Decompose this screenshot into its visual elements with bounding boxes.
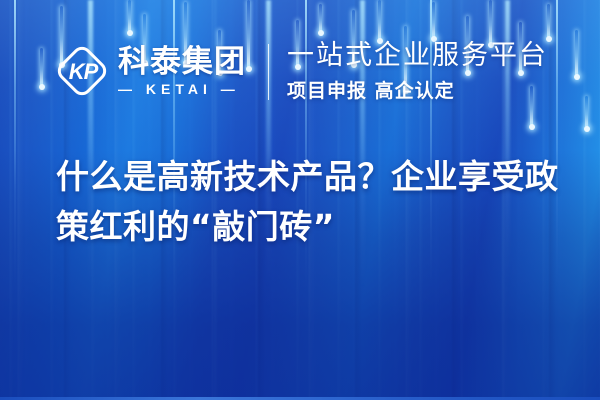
- falling-light-particle: [432, 2, 435, 40]
- ketai-diamond-kp-icon: KP: [56, 45, 110, 99]
- tagline-block: 一站式企业服务平台 项目申报 高企认定: [287, 41, 548, 103]
- falling-light-particle: [575, 30, 578, 78]
- tagline-sub: 项目申报 高企认定: [287, 76, 548, 103]
- falling-light-particle: [40, 48, 43, 88]
- vertical-divider-icon: [268, 44, 269, 100]
- logo-letters: KP: [56, 45, 110, 99]
- brand-header: KP 科泰集团 — KETAI — 一站式企业服务平台 项目申报 高企认定: [56, 38, 548, 106]
- falling-light-particle: [128, 0, 131, 34]
- falling-light-particle: [547, 4, 550, 40]
- brand-names: 科泰集团 — KETAI —: [118, 47, 246, 97]
- falling-light-particle: [378, 0, 381, 42]
- brand-name-en: — KETAI —: [118, 81, 246, 97]
- headline-line-2: 策红利的“敲门砖”: [56, 202, 571, 252]
- headline: 什么是高新技术产品？企业享受政 策红利的“敲门砖”: [56, 152, 571, 252]
- tagline-main: 一站式企业服务平台: [287, 41, 548, 71]
- falling-light-particle: [585, 96, 588, 130]
- headline-line-1: 什么是高新技术产品？企业享受政: [56, 152, 571, 202]
- promo-banner: KP 科泰集团 — KETAI — 一站式企业服务平台 项目申报 高企认定 什么…: [0, 0, 600, 400]
- falling-light-particle: [319, 4, 322, 34]
- brand-name-cn: 科泰集团: [118, 47, 246, 79]
